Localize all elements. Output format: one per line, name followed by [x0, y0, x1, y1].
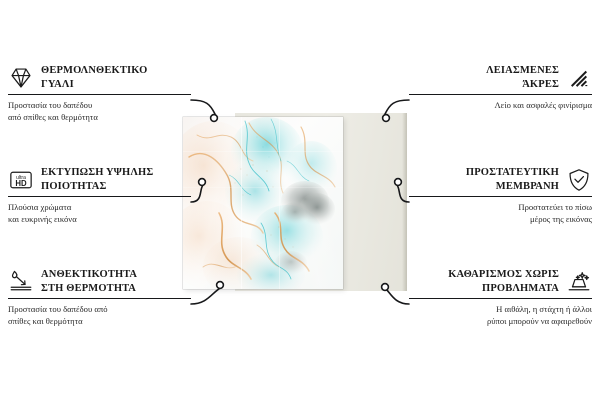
feature-subtitle: Πλούσια χρώματα και ευκρινής εικόνα — [8, 202, 191, 225]
feature-polished-edges: ΛΕΙΑΣΜΕΝΕΣ ΆΚΡΕΣ Λείο και ασφαλές φινίρι… — [409, 64, 592, 112]
feature-header: ΠΡΟΣΤΑΤΕΥΤΙΚΗ ΜΕΜΒΡΑΝΗ — [409, 166, 592, 193]
feature-subtitle-line1: Προστατεύει το πίσω — [409, 202, 592, 214]
infographic-stage: ΘΕΡΜΟΛΝΘΕΚΤΙΚΟ ΓΥΑΛΙ Προστασία του δαπέδ… — [0, 0, 600, 400]
feature-subtitle: Προστατεύει το πίσω μέρος της εικόνας — [409, 202, 592, 225]
feature-title-line2: ΣΤΗ ΘΕΡΜΟΤΗΤΑ — [41, 282, 137, 296]
feature-protective-membrane: ΠΡΟΣΤΑΤΕΥΤΙΚΗ ΜΕΜΒΡΑΝΗ Προστατεύει το πί… — [409, 166, 592, 225]
product-glass-panel — [183, 117, 343, 289]
feature-divider-rule — [8, 196, 191, 197]
shield-check-icon — [566, 167, 592, 193]
feature-subtitle-line1: Προστασία του δαπέδου από — [8, 304, 191, 316]
feature-subtitle-line2: ρύποι μπορούν να αφαιρεθούν — [409, 316, 592, 328]
feature-title-line2: ΓΥΑΛΙ — [41, 78, 147, 92]
feature-title-line1: ΛΕΙΑΣΜΕΝΕΣ — [486, 64, 559, 78]
glass-reflection-line-v2 — [279, 117, 280, 289]
ultra-hd-icon: ultra HD — [8, 167, 34, 193]
feature-subtitle-line2: από σπίθες και θερμότητα — [8, 112, 191, 124]
feature-easy-cleaning: ΚΑΘΑΡΙΣΜΟΣ ΧΩΡΙΣ ΠΡΟΒΛΗΜΑΤΑ Η αιθάλη, η … — [409, 268, 592, 327]
feature-divider-rule — [8, 94, 191, 95]
feature-subtitle-line1: Πλούσια χρώματα — [8, 202, 191, 214]
feature-title: ΑΝΘΕΚΤΙΚΟΤΗΤΑ ΣΤΗ ΘΕΡΜΟΤΗΤΑ — [41, 268, 137, 295]
feature-subtitle: Προστασία του δαπέδου από σπίθες και θερ… — [8, 100, 191, 123]
feature-heat-durability: ΑΝΘΕΚΤΙΚΟΤΗΤΑ ΣΤΗ ΘΕΡΜΟΤΗΤΑ Προστασία το… — [8, 268, 191, 327]
feature-title: ΕΚΤΥΠΩΣΗ ΥΨΗΛΗΣ ΠΟΙΟΤΗΤΑΣ — [41, 166, 153, 193]
feature-title: ΠΡΟΣΤΑΤΕΥΤΙΚΗ ΜΕΜΒΡΑΝΗ — [466, 166, 559, 193]
diamond-icon — [8, 65, 34, 91]
glass-reflection-line-v1 — [241, 117, 242, 289]
feature-subtitle: Λείο και ασφαλές φινίρισμα — [409, 100, 592, 112]
feature-heat-resistant-glass: ΘΕΡΜΟΛΝΘΕΚΤΙΚΟ ΓΥΑΛΙ Προστασία του δαπέδ… — [8, 64, 191, 123]
feature-high-quality-print: ultra HD ΕΚΤΥΠΩΣΗ ΥΨΗΛΗΣ ΠΟΙΟΤΗΤΑΣ Πλούσ… — [8, 166, 191, 225]
feature-header: ultra HD ΕΚΤΥΠΩΣΗ ΥΨΗΛΗΣ ΠΟΙΟΤΗΤΑΣ — [8, 166, 191, 193]
feature-subtitle-line2: σπίθες και θερμότητα — [8, 316, 191, 328]
feature-subtitle: Η αιθάλη, η στάχτη ή άλλοι ρύποι μπορούν… — [409, 304, 592, 327]
feature-title-line1: ΠΡΟΣΤΑΤΕΥΤΙΚΗ — [466, 166, 559, 180]
feature-divider-rule — [409, 94, 592, 95]
ultra-hd-icon-bottom-text: HD — [15, 179, 27, 188]
feature-title: ΛΕΙΑΣΜΕΝΕΣ ΆΚΡΕΣ — [486, 64, 559, 91]
connector-right-1 — [385, 100, 409, 114]
feature-divider-rule — [409, 298, 592, 299]
feature-title-line2: ΆΚΡΕΣ — [486, 78, 559, 92]
polished-edges-icon — [566, 65, 592, 91]
feature-subtitle-line1: Προστασία του δαπέδου — [8, 100, 191, 112]
feature-subtitle-line1: Η αιθάλη, η στάχτη ή άλλοι — [409, 304, 592, 316]
feature-title: ΘΕΡΜΟΛΝΘΕΚΤΙΚΟ ΓΥΑΛΙ — [41, 64, 147, 91]
easy-clean-sponge-icon — [566, 269, 592, 295]
feature-header: ΛΕΙΑΣΜΕΝΕΣ ΆΚΡΕΣ — [409, 64, 592, 91]
heat-resistance-icon — [8, 269, 34, 295]
feature-header: ΑΝΘΕΚΤΙΚΟΤΗΤΑ ΣΤΗ ΘΕΡΜΟΤΗΤΑ — [8, 268, 191, 295]
feature-divider-rule — [8, 298, 191, 299]
feature-subtitle-line2: και ευκρινής εικόνα — [8, 214, 191, 226]
feature-divider-rule — [409, 196, 592, 197]
feature-title-line2: ΠΟΙΟΤΗΤΑΣ — [41, 180, 153, 194]
feature-title-line1: ΕΚΤΥΠΩΣΗ ΥΨΗΛΗΣ — [41, 166, 153, 180]
feature-header: ΚΑΘΑΡΙΣΜΟΣ ΧΩΡΙΣ ΠΡΟΒΛΗΜΑΤΑ — [409, 268, 592, 295]
feature-title-line1: ΘΕΡΜΟΛΝΘΕΚΤΙΚΟ — [41, 64, 147, 78]
glass-reflection-line-h1 — [183, 151, 343, 152]
abstract-marble-artwork — [183, 117, 343, 289]
glass-reflection-line-h2 — [183, 187, 343, 188]
product-image — [183, 113, 407, 291]
feature-title-line1: ΑΝΘΕΚΤΙΚΟΤΗΤΑ — [41, 268, 137, 282]
feature-title-line1: ΚΑΘΑΡΙΣΜΟΣ ΧΩΡΙΣ — [448, 268, 559, 282]
connector-left-1 — [191, 100, 215, 114]
feature-title: ΚΑΘΑΡΙΣΜΟΣ ΧΩΡΙΣ ΠΡΟΒΛΗΜΑΤΑ — [448, 268, 559, 295]
connector-right-3 — [386, 289, 409, 304]
feature-title-line2: ΠΡΟΒΛΗΜΑΤΑ — [448, 282, 559, 296]
feature-subtitle: Προστασία του δαπέδου από σπίθες και θερ… — [8, 304, 191, 327]
feature-title-line2: ΜΕΜΒΡΑΝΗ — [466, 180, 559, 194]
feature-subtitle-line2: μέρος της εικόνας — [409, 214, 592, 226]
feature-subtitle-line1: Λείο και ασφαλές φινίρισμα — [409, 100, 592, 112]
feature-header: ΘΕΡΜΟΛΝΘΕΚΤΙΚΟ ΓΥΑΛΙ — [8, 64, 191, 91]
